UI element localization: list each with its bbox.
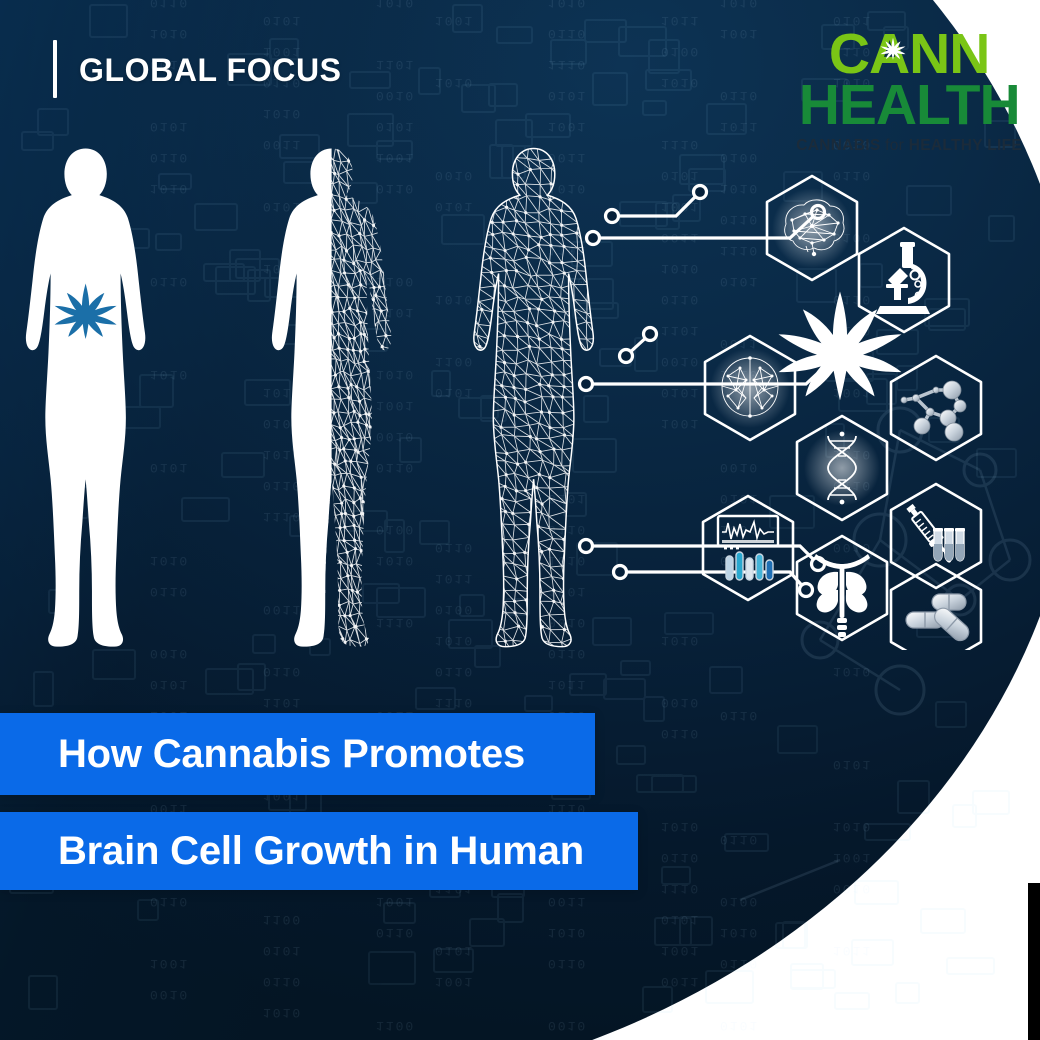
hex-icon-cluster [690,150,1040,650]
logo-tagline: CANNABIS for HEALTHY LIFE [796,138,1022,154]
microscope-icon [876,242,930,314]
black-corner-strip [1028,883,1040,1040]
molecule-icon [901,381,966,441]
logo-tagline-healthylife: HEALTHY LIFE [909,137,1022,154]
headline-bar-2: Brain Cell Growth in Human [0,812,638,890]
hex-pills [891,564,981,650]
headline-line-1: How Cannabis Promotes [0,732,525,777]
headline-bar-1: How Cannabis Promotes [0,713,595,795]
logo-tagline-cannabis: CANNABIS [796,137,880,154]
syringe-vials-icon [903,501,965,565]
kicker-label: GLOBAL FOCUS [79,52,342,89]
hex-dna [797,416,887,520]
hex-molecule [891,356,981,460]
hex-brain-side [767,176,857,280]
kicker-accent-bar [53,40,57,98]
hex-brain-top [705,336,795,440]
cannabis-leaf-icon [880,37,906,63]
logo-tagline-for: for [885,137,904,154]
pills-capsules-icon [906,594,972,644]
hex-ecg [703,496,793,600]
poster-canvas: 0010100101101100001101101001010100100110… [0,0,1040,1040]
kicker-block: GLOBAL FOCUS [53,40,342,98]
logo-line-cann: CANN [829,26,990,83]
logo-cann-text: CANN [829,22,990,86]
hex-ribcage [797,536,887,640]
brand-logo[interactable]: CANN HEALTH CANNABIS for HEALTHY LIFE [796,26,1022,154]
ribcage-icon [814,554,870,637]
headline-line-2: Brain Cell Growth in Human [0,829,584,874]
hex-syringe [891,484,981,588]
ecg-monitor-icon [718,516,778,580]
